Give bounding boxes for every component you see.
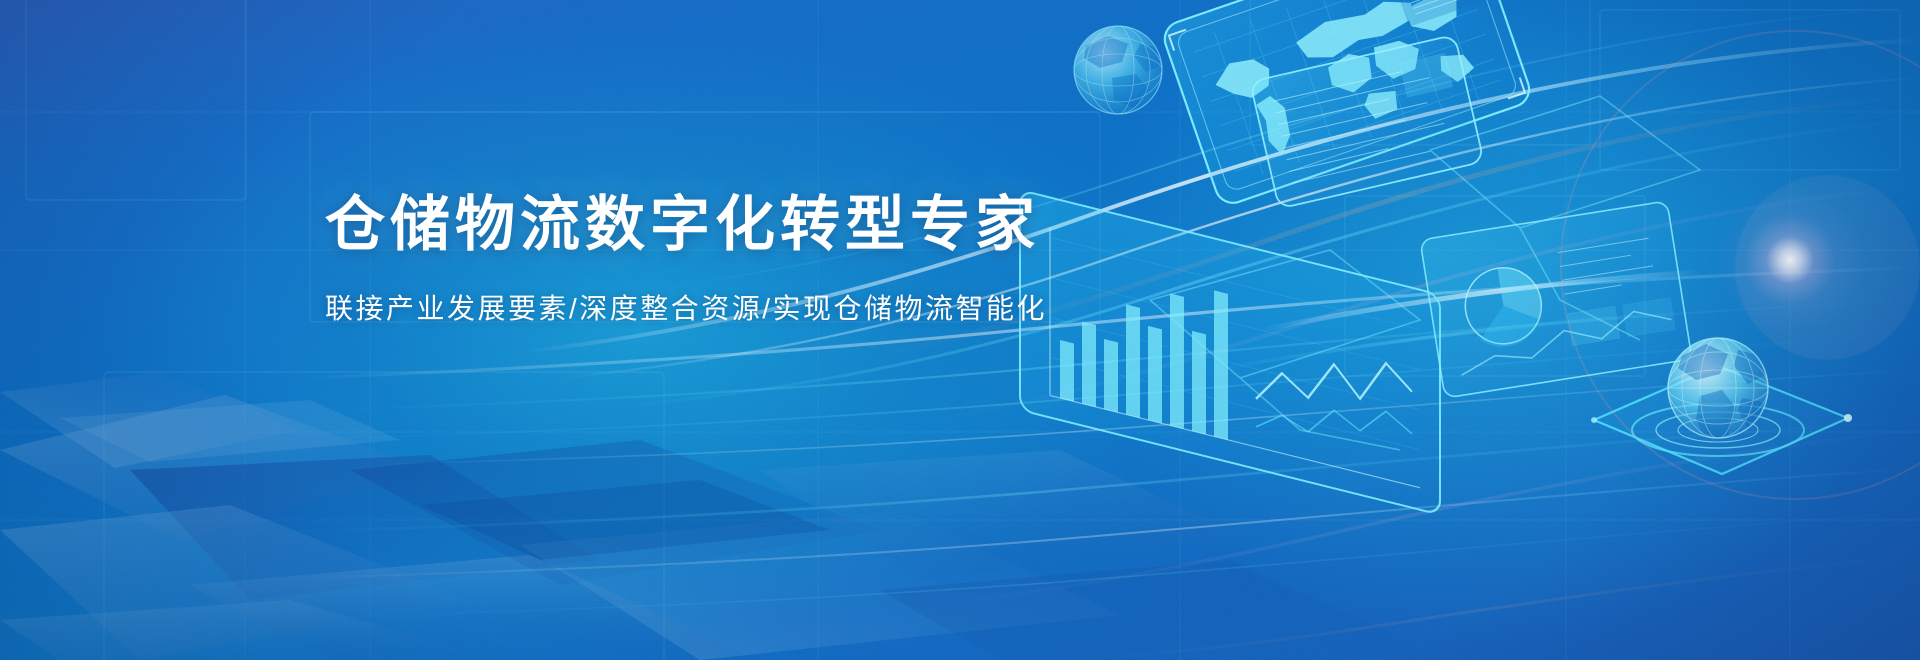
hero-headline: 仓储物流数字化转型专家 [325, 190, 1025, 261]
hero-banner: ASIA [0, 0, 1920, 660]
vignette-overlay [0, 0, 1920, 660]
lens-flare-ring-inner [1735, 175, 1920, 360]
background-grid [0, 0, 1920, 660]
hologram-graphic: ASIA [1000, 0, 1920, 660]
hero-subline: 联接产业发展要素/深度整合资源/实现仓储物流智能化 [325, 287, 1025, 327]
noise-texture [0, 0, 1920, 660]
geometric-facets [0, 0, 1920, 660]
hero-copy: 仓储物流数字化转型专家 联接产业发展要素/深度整合资源/实现仓储物流智能化 [325, 190, 1025, 327]
lens-flare-ring-outer [1560, 30, 1920, 500]
light-streaks [0, 0, 1920, 660]
lens-flare-core [1705, 175, 1875, 345]
